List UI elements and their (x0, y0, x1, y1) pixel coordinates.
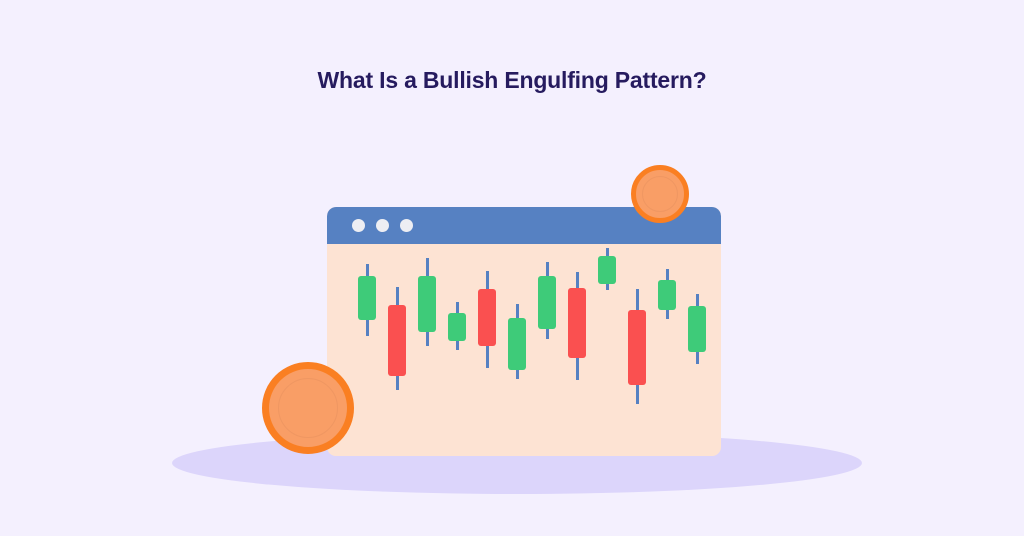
coin-large-icon (262, 362, 354, 454)
candle-3 (418, 244, 436, 456)
candle-3-body (418, 276, 436, 332)
candle-5 (478, 244, 496, 456)
candle-9-body (598, 256, 616, 284)
candle-10-body (628, 310, 646, 385)
candle-1 (358, 244, 376, 456)
candle-6-body (508, 318, 526, 370)
candle-2 (388, 244, 406, 456)
coin-small-icon (631, 165, 689, 223)
candle-6 (508, 244, 526, 456)
candle-12 (688, 244, 706, 456)
coin-small-inner-ring (642, 176, 678, 212)
candle-5-body (478, 289, 496, 346)
candle-11-body (658, 280, 676, 310)
illustration-page: What Is a Bullish Engulfing Pattern? (0, 0, 1024, 536)
candle-7-body (538, 276, 556, 329)
window-maximize-dot[interactable] (400, 219, 413, 232)
candle-2-body (388, 305, 406, 376)
page-title: What Is a Bullish Engulfing Pattern? (0, 67, 1024, 94)
window-close-dot[interactable] (352, 219, 365, 232)
candle-4-body (448, 313, 466, 341)
candle-11 (658, 244, 676, 456)
candlestick-chart (327, 244, 721, 456)
candle-12-body (688, 306, 706, 352)
candle-7 (538, 244, 556, 456)
coin-large-inner-ring (278, 378, 338, 438)
candle-8-body (568, 288, 586, 358)
browser-window-mockup (327, 207, 721, 456)
window-minimize-dot[interactable] (376, 219, 389, 232)
candle-8 (568, 244, 586, 456)
candle-1-body (358, 276, 376, 320)
candle-4 (448, 244, 466, 456)
candle-9 (598, 244, 616, 456)
candle-10 (628, 244, 646, 456)
